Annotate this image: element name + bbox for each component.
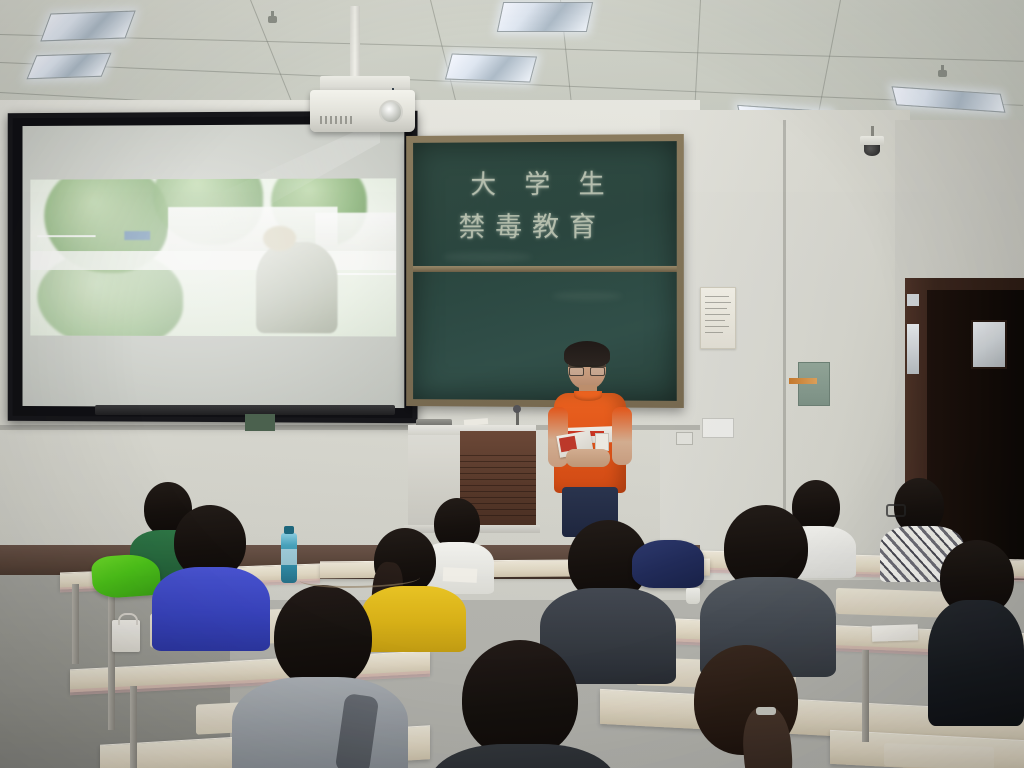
presenter-hands xyxy=(566,449,610,467)
ceiling-sensor-icon xyxy=(938,70,947,77)
video-road xyxy=(30,251,397,270)
screen-wall-bracket xyxy=(245,414,275,431)
ceiling-light-icon xyxy=(27,53,112,80)
paper-cup xyxy=(686,588,700,604)
bottle-label xyxy=(281,549,297,565)
projected-video-frame xyxy=(30,178,397,337)
chalk-smudge xyxy=(443,252,532,262)
projection-screen[interactable] xyxy=(8,111,418,423)
wall-notice xyxy=(700,287,736,349)
presenter-right-arm xyxy=(612,407,632,465)
green-jacket-on-desk xyxy=(91,553,162,600)
desk-leg xyxy=(130,686,137,768)
notice-text-line xyxy=(705,302,731,303)
ceiling-light-icon xyxy=(892,86,1006,112)
student-foreground-center xyxy=(430,640,616,768)
ceiling-light-icon xyxy=(445,54,537,83)
wall-mounted-box[interactable] xyxy=(798,362,830,406)
student-gray-suit xyxy=(700,505,836,665)
projector-vent xyxy=(340,116,342,124)
student-ponytail-front xyxy=(672,645,824,768)
student-presenter xyxy=(548,345,634,535)
student-torso xyxy=(232,677,408,768)
navy-jacket-on-desk xyxy=(632,540,704,588)
wall-outlet[interactable] xyxy=(676,432,693,445)
presenter-collar xyxy=(574,391,602,401)
student-head xyxy=(274,585,372,689)
projector-vent xyxy=(345,116,347,124)
bench-seat xyxy=(884,743,994,768)
projection-screen-surface xyxy=(23,124,405,408)
water-bottle xyxy=(281,533,297,583)
chalk-smudge xyxy=(552,292,622,300)
projector-vent xyxy=(335,116,337,124)
notice-text-line xyxy=(705,314,730,315)
blackboard[interactable]: 大 学 生 禁毒教育 xyxy=(406,134,684,408)
glasses-icon xyxy=(568,365,606,374)
blackboard-text-line-2: 禁毒教育 xyxy=(459,205,607,244)
hair-tie xyxy=(756,707,776,715)
notice-text-line xyxy=(705,320,725,321)
video-building xyxy=(315,213,397,254)
paper-on-desk xyxy=(872,624,919,642)
student-black-jacket xyxy=(928,540,1024,720)
ceiling-projector[interactable] xyxy=(310,90,415,132)
projector-vent xyxy=(350,116,352,124)
notice-text-line xyxy=(705,296,729,297)
lectern-grill-line xyxy=(460,473,536,474)
door-jamb-highlight xyxy=(907,294,919,306)
lectern-grill-line xyxy=(460,467,536,468)
lectern-grill-line xyxy=(460,491,536,492)
door-jamb-highlight xyxy=(907,324,919,374)
student-gray-hoodie xyxy=(232,585,408,768)
lectern-grill-line xyxy=(460,485,536,486)
blackboard-surface: 大 学 生 禁毒教育 xyxy=(413,141,677,401)
projector-lens-icon xyxy=(379,100,403,124)
white-paper-bag xyxy=(112,620,140,652)
projector-mount-pole xyxy=(350,6,360,80)
video-sign xyxy=(124,231,149,240)
blackboard-chalk-rail xyxy=(413,266,677,272)
security-camera-dome xyxy=(864,145,880,156)
student-head xyxy=(462,640,578,758)
student-torso xyxy=(928,600,1024,726)
bag-handle xyxy=(118,613,138,625)
classroom-photo: 大 学 生 禁毒教育 xyxy=(0,0,1024,768)
projector-vent xyxy=(320,116,322,124)
desk-leg xyxy=(72,584,79,664)
door-window-pane xyxy=(971,320,1007,369)
ceiling-light-icon xyxy=(40,11,135,42)
presenter-hair xyxy=(564,341,610,367)
wall-small-sign xyxy=(702,418,734,438)
notice-text-line xyxy=(705,308,727,309)
projector-vent xyxy=(330,116,332,124)
wall-box-handle-icon xyxy=(789,378,817,384)
ceiling-sensor-icon xyxy=(268,16,277,23)
lectern-grill-line xyxy=(460,479,536,480)
ceiling-light-icon xyxy=(497,2,593,32)
video-railing xyxy=(37,236,95,238)
student-torso xyxy=(430,744,616,768)
paper-on-desk xyxy=(443,567,478,583)
blackboard-text-line-1: 大 学 生 xyxy=(470,164,614,202)
video-person xyxy=(256,242,337,334)
projector-vent xyxy=(325,116,327,124)
glasses-icon xyxy=(886,504,906,517)
bottle-cap xyxy=(284,526,294,534)
desk-leg xyxy=(108,590,115,730)
notice-text-line xyxy=(705,326,729,327)
lectern-grill-line xyxy=(460,455,536,456)
lectern-grill-line xyxy=(460,461,536,462)
notice-text-line xyxy=(705,332,723,333)
desk-leg xyxy=(862,650,869,742)
